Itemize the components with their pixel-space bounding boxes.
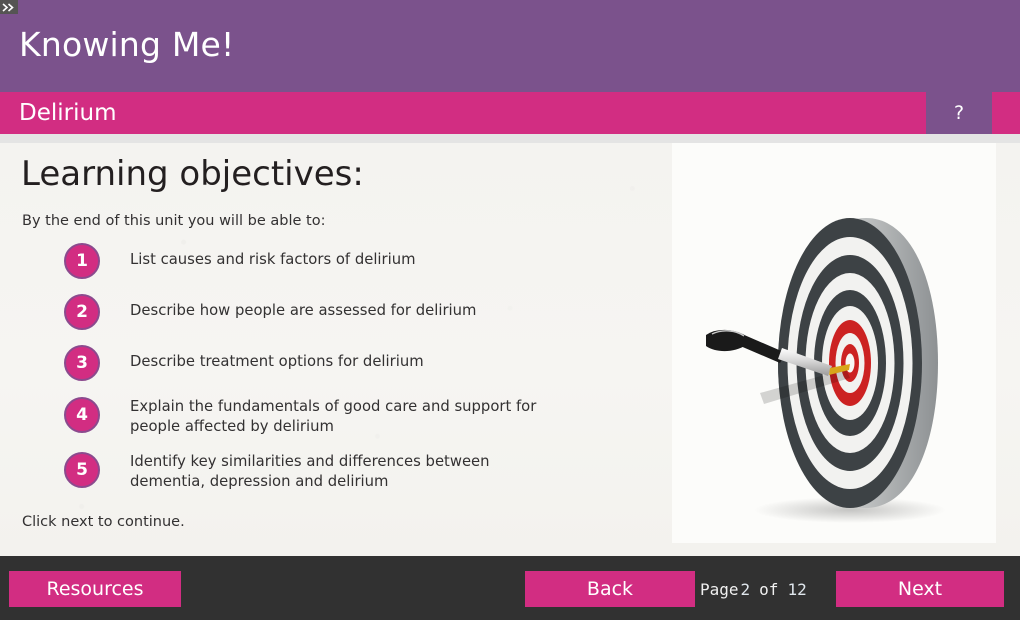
dartboard-with-dart-illustration [700,188,1000,538]
list-item: 2 Describe how people are assessed for d… [64,294,476,330]
list-item: 5 Identify key similarities and differen… [64,452,490,491]
page-label: Page [700,580,739,599]
course-title-bar: Knowing Me! [0,0,1020,92]
page-title: Knowing Me! [19,22,234,67]
next-button[interactable]: Next [836,571,1004,607]
list-item: 4 Explain the fundamentals of good care … [64,397,536,436]
header-divider [0,134,1020,143]
objective-text: Describe treatment options for delirium [130,345,424,372]
list-item: 3 Describe treatment options for deliriu… [64,345,424,381]
unit-title-bar: Delirium [0,92,1020,134]
slide-intro-text: By the end of this unit you will be able… [22,211,325,231]
objective-text: Identify key similarities and difference… [130,452,490,491]
objective-number-badge: 5 [64,452,100,488]
objective-text: List causes and risk factors of delirium [130,243,416,270]
help-button[interactable]: ? [926,92,992,134]
back-button[interactable]: Back [525,571,695,607]
total-pages-number: 12 [787,580,806,599]
elearning-slide-window: Knowing Me! Delirium ? Learning objectiv… [0,0,1020,620]
resources-button[interactable]: Resources [9,571,181,607]
unit-title: Delirium [19,96,116,130]
objective-text: Describe how people are assessed for del… [130,294,476,321]
objective-number-badge: 4 [64,397,100,433]
objective-text: Explain the fundamentals of good care an… [130,397,536,436]
page-of-label: of [759,580,778,599]
current-page-number[interactable]: 2 [741,580,751,599]
slide-outro-text: Click next to continue. [22,512,185,532]
list-item: 1 List causes and risk factors of deliri… [64,243,416,279]
double-chevron-right-icon[interactable] [0,0,18,14]
objective-number-badge: 3 [64,345,100,381]
slide-content: Learning objectives: By the end of this … [0,143,1020,556]
objective-number-badge: 2 [64,294,100,330]
objective-number-badge: 1 [64,243,100,279]
slide-heading: Learning objectives: [21,151,364,197]
page-indicator: Page 2 of 12 [700,578,809,600]
